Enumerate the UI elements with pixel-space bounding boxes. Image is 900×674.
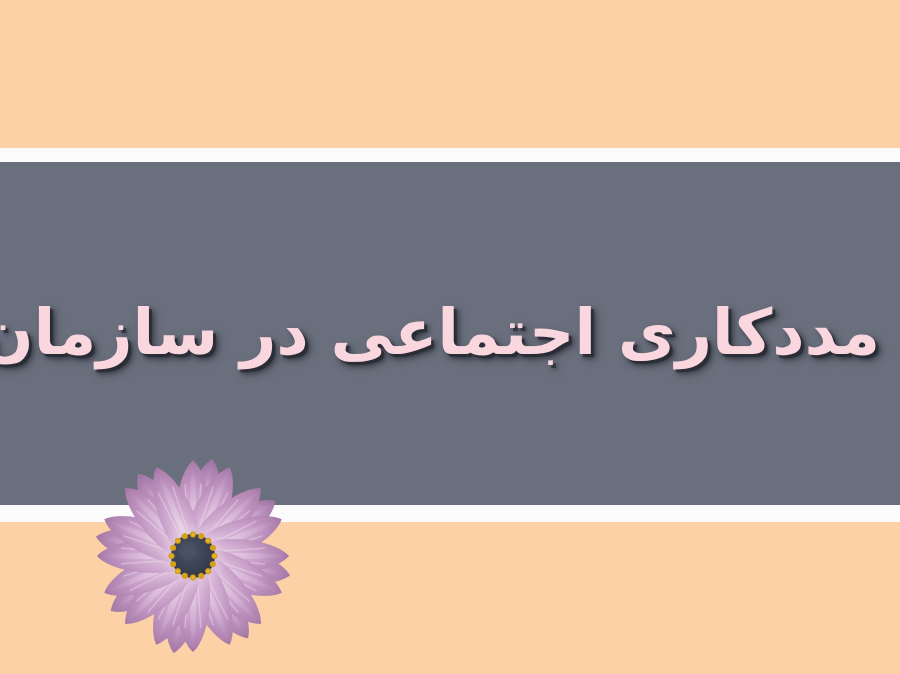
slide-title: مددکاری اجتماعی در سازمان <box>20 297 880 369</box>
band-gap-lower <box>0 505 900 522</box>
band-bottom-peach <box>0 522 900 674</box>
title-slide: مددکاری اجتماعی در سازمان <box>0 0 900 674</box>
band-gap-upper <box>0 148 900 162</box>
title-container: مددکاری اجتماعی در سازمان <box>0 162 900 505</box>
band-top-peach <box>0 0 900 148</box>
